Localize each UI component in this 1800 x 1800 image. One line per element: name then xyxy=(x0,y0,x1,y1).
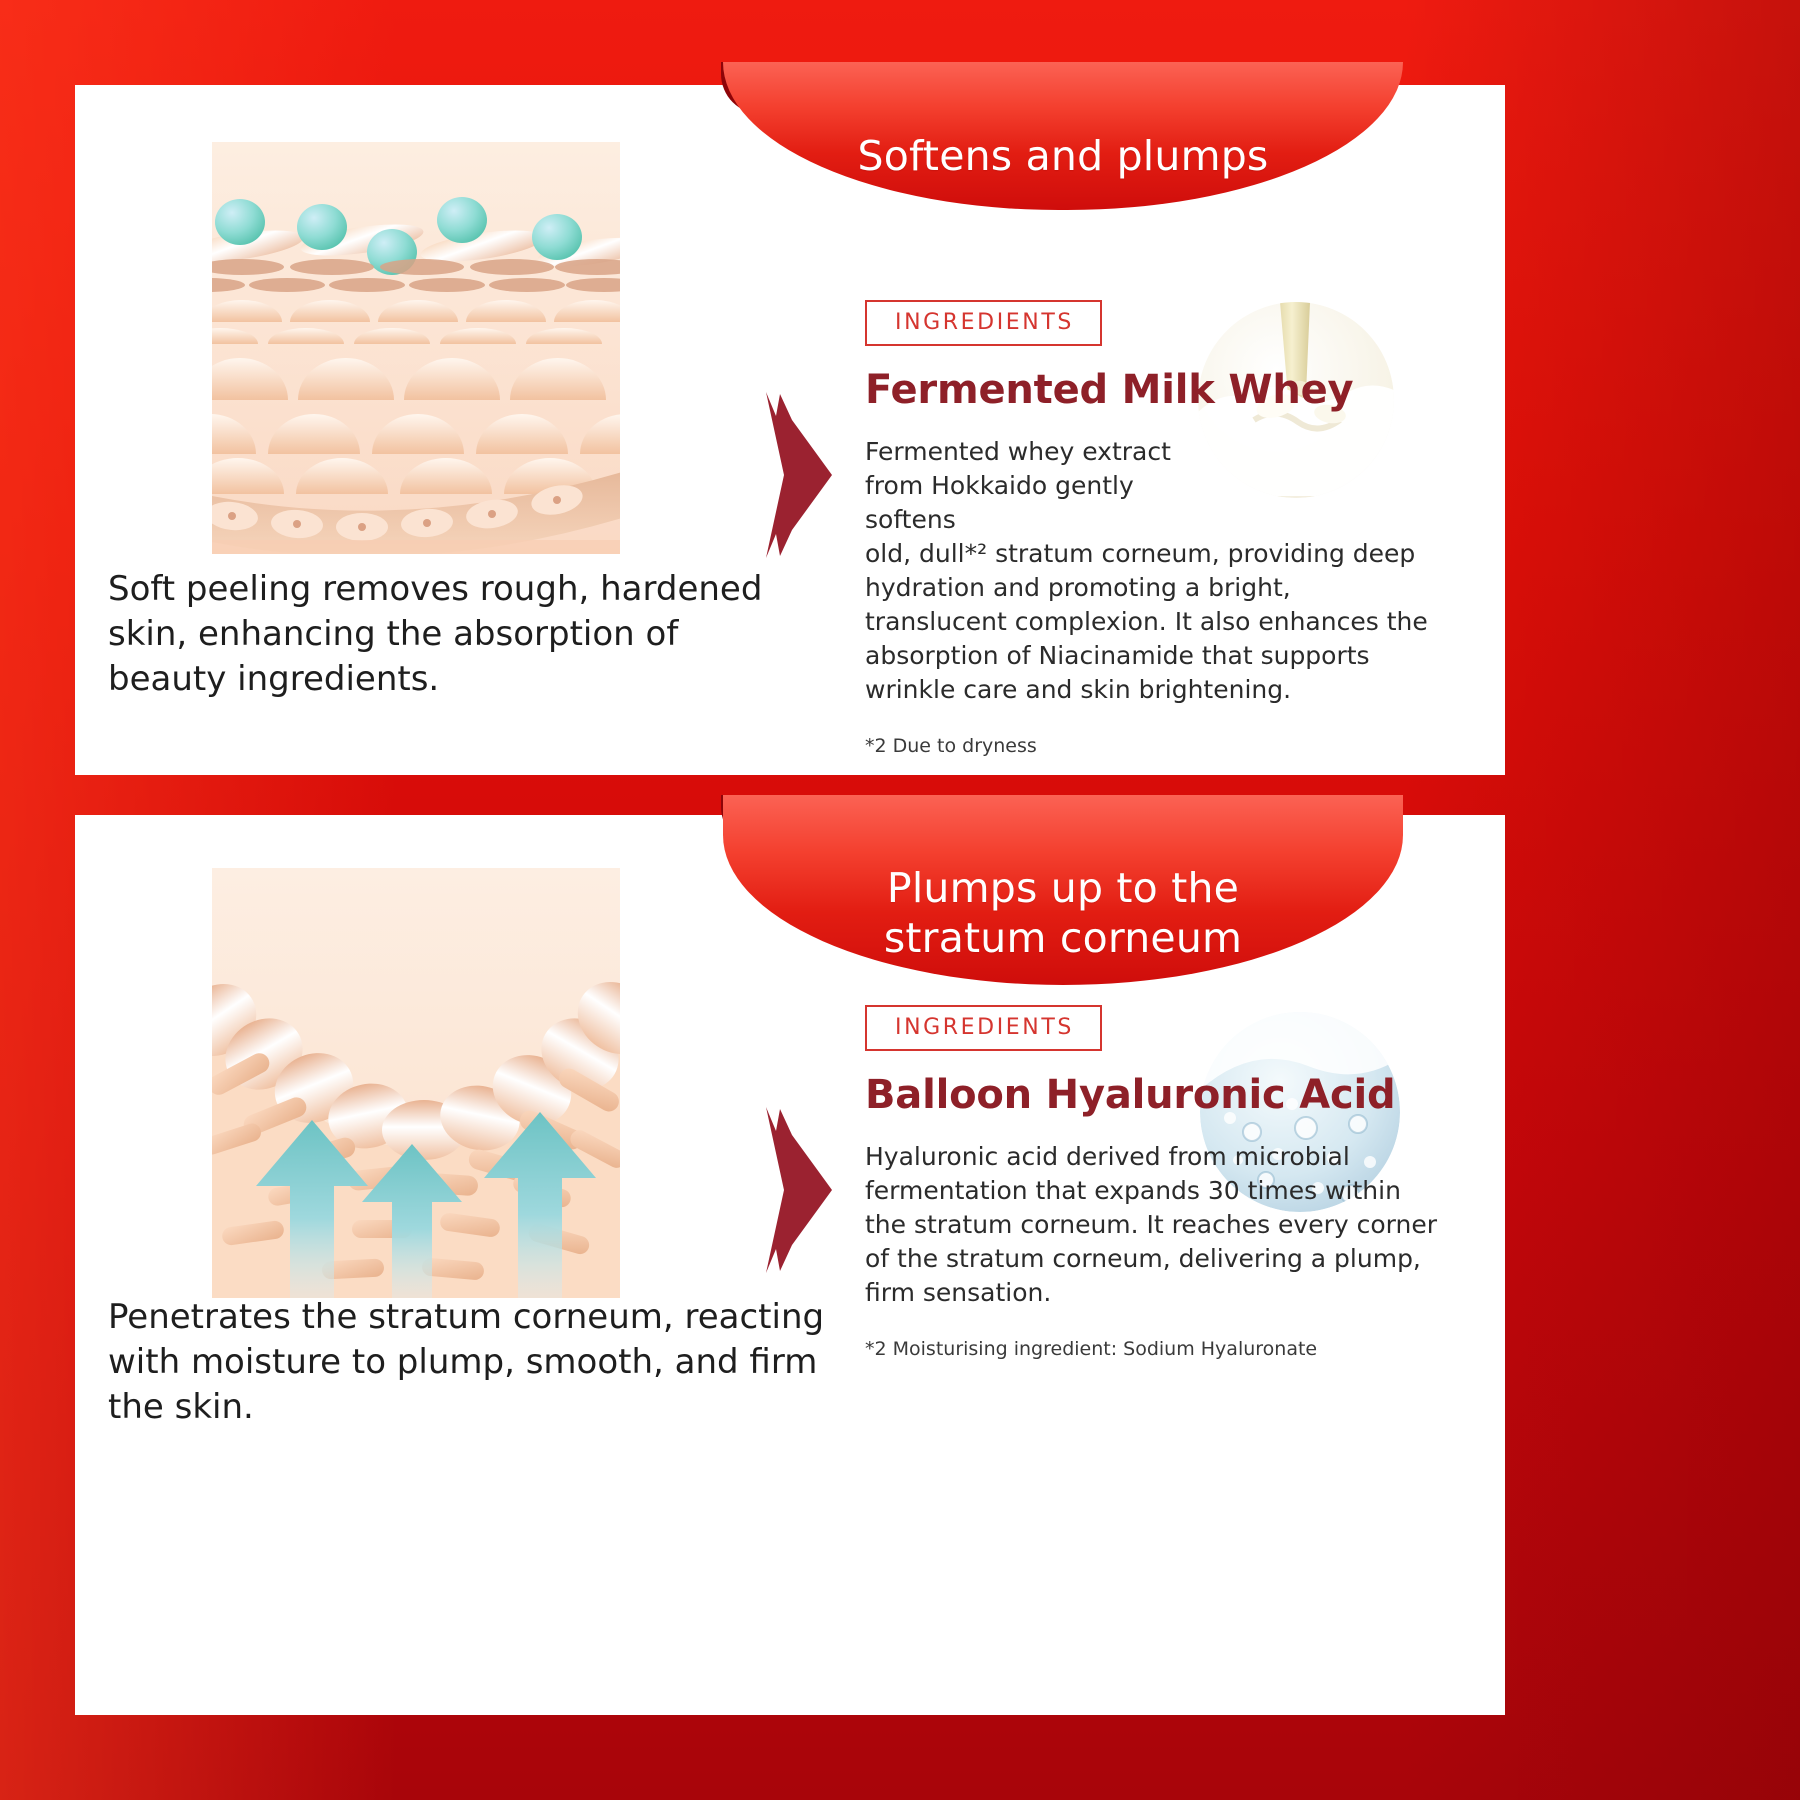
banner-plumps-up: Plumps up to the stratum corneum xyxy=(723,795,1403,985)
pointer-arrow-2 xyxy=(762,1105,834,1275)
ingredient-note-1: *2 Due to dryness xyxy=(865,733,1445,760)
skin-cross-section-plumping-illustration xyxy=(212,868,620,1298)
ingredient-body-2: Hyaluronic acid derived from microbial f… xyxy=(865,1140,1445,1310)
pointer-arrow-1 xyxy=(762,390,834,560)
ingredients-badge-2: INGREDIENTS xyxy=(865,1005,1102,1051)
ingredient-block-1: INGREDIENTS Fermented Milk Whey Fermente… xyxy=(865,300,1445,760)
ingredients-badge-1: INGREDIENTS xyxy=(865,300,1102,346)
ingredient-note-2: *2 Moisturising ingredient: Sodium Hyalu… xyxy=(865,1336,1445,1363)
plumping-skin-svg xyxy=(212,868,620,1298)
banner-softens-and-plumps: Softens and plumps xyxy=(723,62,1403,210)
caption-panel-1: Soft peeling removes rough, hardened ski… xyxy=(108,567,798,703)
ingredient-title-2: Balloon Hyaluronic Acid xyxy=(865,1073,1445,1118)
ingredient-body-1-narrow: Fermented whey extract from Hokkaido gen… xyxy=(865,435,1205,537)
skin-cross-section-peeling-illustration xyxy=(212,142,620,554)
ingredient-title-1: Fermented Milk Whey xyxy=(865,368,1445,413)
caption-panel-2: Penetrates the stratum corneum, reacting… xyxy=(108,1295,828,1431)
banner-title-2: Plumps up to the stratum corneum xyxy=(853,811,1273,969)
ribbon-body-2: Plumps up to the stratum corneum xyxy=(723,795,1403,985)
skin-cross-section-svg xyxy=(212,142,620,554)
banner-title: Softens and plumps xyxy=(858,85,1269,187)
ingredient-body-1-wide: old, dull*² stratum corneum, providing d… xyxy=(865,537,1437,707)
ribbon-body: Softens and plumps xyxy=(723,62,1403,210)
ingredient-block-2: INGREDIENTS Balloon Hyaluronic Acid Hyal… xyxy=(865,1005,1445,1363)
